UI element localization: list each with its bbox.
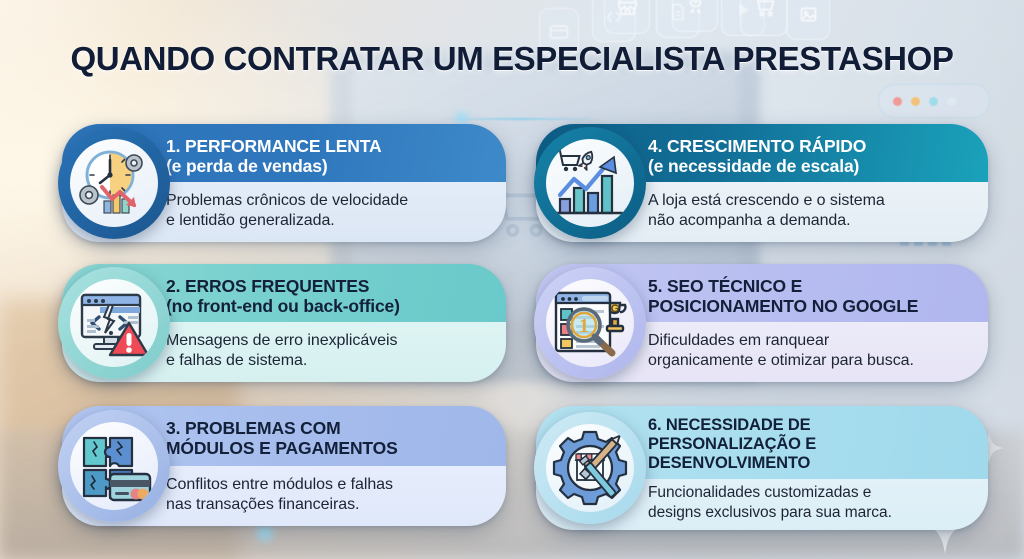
card-5-title-line1: 5. SEO TÉCNICO E	[648, 276, 968, 296]
card-4-body-line2: não acompanha a demanda.	[648, 211, 970, 231]
card-3-title-line1: 3. PROBLEMAS COM	[166, 418, 486, 438]
bg-dot-cyan	[929, 97, 938, 106]
card-1-body-line1: Problemas crônicos de velocidade	[166, 191, 488, 211]
code-error-monitor-icon	[70, 279, 158, 367]
card-6-body-line1: Funcionalidades customizadas e	[648, 483, 972, 503]
card-4-title-line1: 4. CRESCIMENTO RÁPIDO	[648, 136, 968, 156]
bg-chip-shopping-cart	[740, 0, 788, 36]
slow-performance-clock-icon	[70, 139, 158, 227]
card-5-body-line1: Dificuldades em ranquear	[648, 331, 970, 351]
bg-chip-rocket	[672, 0, 718, 32]
rocket-icon	[684, 0, 707, 15]
credit-card-icon	[549, 24, 569, 40]
card-4-title-line2: (e necessidade de escala)	[648, 156, 968, 176]
bg-chip-document	[656, 0, 700, 38]
card-4-icon-badge	[534, 127, 646, 239]
card-6-title-line1: 6. NECESSIDADE DE	[648, 416, 970, 435]
bg-chip-code-brackets	[592, 0, 636, 42]
card-6-title-line3: DESENVOLVIMENTO	[648, 454, 970, 473]
card-2-body-line1: Mensagens de erro inexplicáveis	[166, 331, 488, 351]
bg-chip-image	[786, 0, 830, 40]
card-1-icon-badge	[58, 127, 170, 239]
shopping-cart-icon	[752, 0, 777, 19]
image-icon	[798, 4, 819, 25]
gear-storefront-brush-icon	[546, 424, 634, 512]
bg-dot-red	[893, 97, 902, 106]
card-2-icon-badge	[58, 267, 170, 379]
document-icon	[668, 1, 688, 23]
card-1-title-line2: (e perda de vendas)	[166, 156, 486, 176]
growth-rocket-chart-icon	[546, 139, 634, 227]
puzzle-payment-card-icon	[70, 422, 158, 510]
card-5-title-line2: POSICIONAMENTO NO GOOGLE	[648, 296, 968, 316]
seo-magnifier-trophy-icon: G 1	[546, 279, 634, 367]
card-3-body-line1: Conflitos entre módulos e falhas	[166, 475, 488, 495]
card-5-icon-badge: G 1	[534, 267, 646, 379]
bg-connector-line-1	[440, 118, 600, 120]
bg-status-pill	[878, 84, 990, 118]
card-6-icon-badge	[534, 412, 646, 524]
card-1-title-line1: 1. PERFORMANCE LENTA	[166, 136, 486, 156]
card-2-title-line2: (no front-end ou back-office)	[166, 296, 486, 316]
page-title: QUANDO CONTRATAR UM ESPECIALISTA PRESTAS…	[0, 40, 1024, 78]
card-6-title-line2: PERSONALIZAÇÃO E	[648, 435, 970, 454]
svg-text:G: G	[611, 303, 620, 315]
card-5-body-line2: organicamente e otimizar para busca.	[648, 351, 970, 371]
card-4-body-line1: A loja está crescendo e o sistema	[648, 191, 970, 211]
infographic-canvas: QUANDO CONTRATAR UM ESPECIALISTA PRESTAS…	[0, 0, 1024, 559]
card-3-icon-badge	[58, 410, 170, 522]
card-2-title-line1: 2. ERROS FREQUENTES	[166, 276, 486, 296]
bg-dot-amber	[911, 97, 920, 106]
storefront-icon	[616, 0, 639, 18]
svg-text:1: 1	[579, 315, 589, 337]
bg-chip-storefront	[604, 0, 650, 34]
bg-dot-white	[947, 97, 956, 106]
card-2-body-line2: e falhas de sistema.	[166, 351, 488, 371]
card-3-title-line2: MÓDULOS E PAGAMENTOS	[166, 438, 486, 458]
bg-chip-play	[721, 0, 765, 36]
card-3-body-line2: nas transações financeiras.	[166, 495, 488, 515]
card-1-body-line2: e lentidão generalizada.	[166, 211, 488, 231]
play-icon	[733, 0, 753, 20]
code-brackets-icon	[603, 6, 625, 28]
card-6-body-line2: designs exclusivos para sua marca.	[648, 503, 972, 523]
